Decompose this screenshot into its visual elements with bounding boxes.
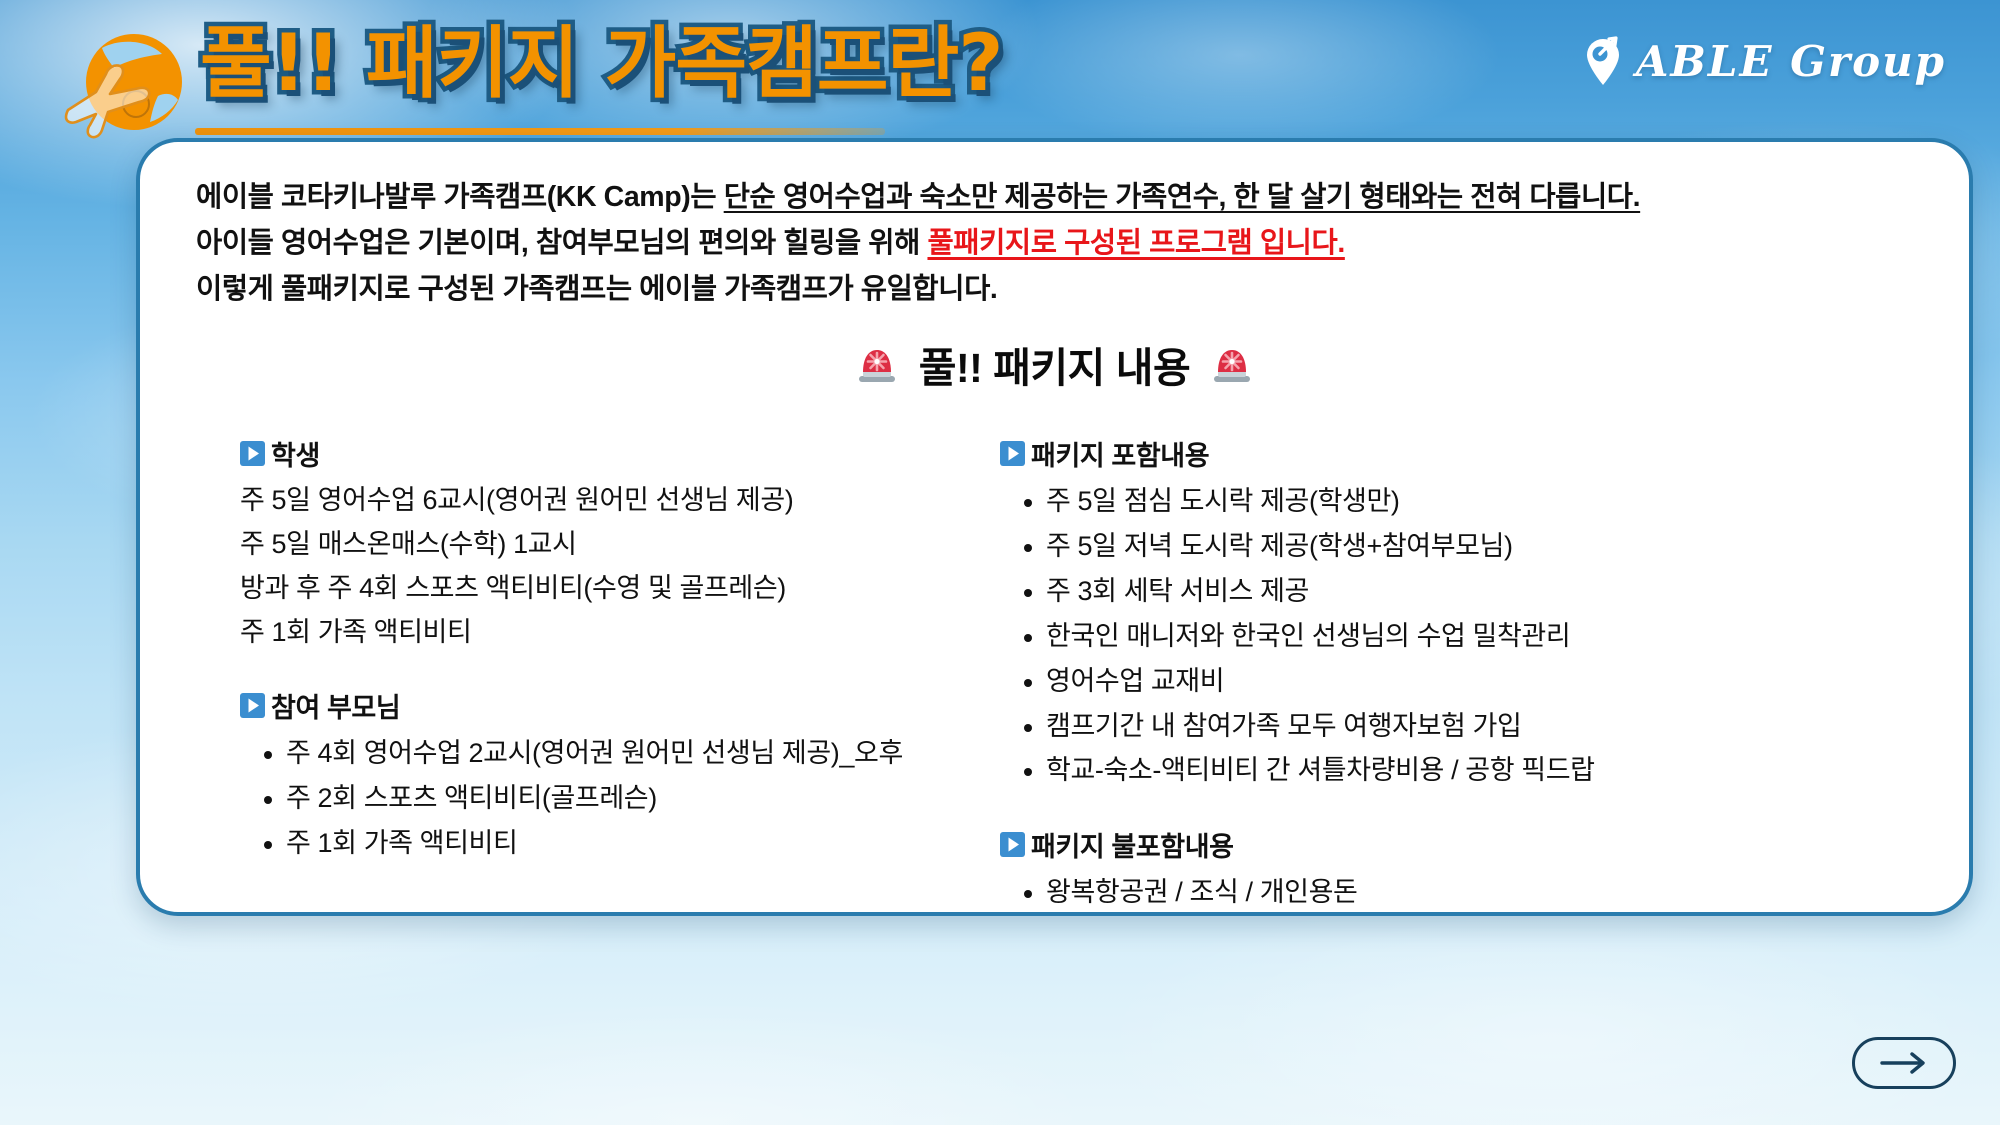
play-button-icon <box>1000 832 1025 857</box>
list-item: 주 3회 세탁 서비스 제공 <box>1046 569 1830 614</box>
list-item: 영어수업 교재비 <box>1046 659 1830 704</box>
intro-line-2-plain: 아이들 영어수업은 기본이며, 참여부모님의 편의와 힐링을 위해 <box>196 227 927 259</box>
list-item: 주 5일 매스온매스(수학) 1교시 <box>240 523 940 567</box>
group-student-label: 학생 <box>271 434 320 473</box>
slide-header: 풀!! 패키지 가족캠프란? ABLE Group <box>0 0 2000 150</box>
list-item: 주 1회 가족 액티비티 <box>240 611 940 655</box>
group-excluded-list: 왕복항공권 / 조식 / 개인용돈 <box>1000 870 1830 915</box>
intro-line-2: 아이들 영어수업은 기본이며, 참여부모님의 편의와 힐링을 위해 풀패키지로 … <box>196 220 1923 266</box>
group-excluded-header: 패키지 불포함내용 <box>1000 825 1830 864</box>
list-item: 학교-숙소-액티비티 간 셔틀차량비용 / 공항 픽드랍 <box>1046 748 1830 793</box>
intro-line-1-plain: 에이블 코타키나발루 가족캠프(KK Camp)는 <box>196 181 724 213</box>
section-heading: 풀!! 패키지 내용 <box>186 334 1923 394</box>
title-underline-bar <box>195 128 885 135</box>
list-item: 방과 후 주 4회 스포츠 액티비티(수영 및 골프레슨) <box>240 567 940 611</box>
intro-line-2-highlight: 풀패키지로 구성된 프로그램 입니다. <box>927 227 1344 259</box>
arrow-right-icon <box>1876 1051 1932 1075</box>
section-heading-label: 풀!! 패키지 내용 <box>919 334 1190 394</box>
list-item: 주 5일 저녁 도시락 제공(학생+참여부모님) <box>1046 524 1830 569</box>
list-item: 한국인 매니저와 한국인 선생님의 수업 밀착관리 <box>1046 614 1830 659</box>
list-item: 주 5일 점심 도시락 제공(학생만) <box>1046 479 1830 524</box>
column-right: 패키지 포함내용 주 5일 점심 도시락 제공(학생만) 주 5일 저녁 도시락… <box>1000 434 1830 919</box>
play-button-icon <box>240 693 265 718</box>
group-included-list: 주 5일 점심 도시락 제공(학생만) 주 5일 저녁 도시락 제공(학생+참여… <box>1000 479 1830 793</box>
list-item: 주 1회 가족 액티비티 <box>286 821 940 866</box>
group-included-label: 패키지 포함내용 <box>1031 434 1209 473</box>
intro-line-1-underlined: 단순 영어수업과 숙소만 제공하는 가족연수, 한 달 살기 형태와는 전혀 다… <box>724 181 1640 213</box>
group-included-header: 패키지 포함내용 <box>1000 434 1830 473</box>
list-item: 주 5일 영어수업 6교시(영어권 원어민 선생님 제공) <box>240 479 940 523</box>
group-student-header: 학생 <box>240 434 940 473</box>
page-title: 풀!! 패키지 가족캠프란? <box>200 18 1003 110</box>
globe-plane-icon <box>62 26 186 142</box>
play-button-icon <box>1000 441 1025 466</box>
brand-name: ABLE Group <box>1636 37 1946 86</box>
brand-logo: ABLE Group <box>1584 30 1946 92</box>
list-item: 주 4회 영어수업 2교시(영어권 원어민 선생님 제공)_오후 <box>286 731 940 776</box>
play-button-icon <box>240 441 265 466</box>
location-pin-arrow-icon <box>1584 36 1622 86</box>
group-excluded-label: 패키지 불포함내용 <box>1031 825 1234 864</box>
list-item: 캠프기간 내 참여가족 모두 여행자보험 가입 <box>1046 704 1830 749</box>
group-parents-label: 참여 부모님 <box>271 686 400 725</box>
slide-root: 풀!! 패키지 가족캠프란? ABLE Group 에이블 코타키나발루 가족캠… <box>0 0 2000 1125</box>
police-light-siren-icon <box>855 343 899 385</box>
content-columns: 학생 주 5일 영어수업 6교시(영어권 원어민 선생님 제공) 주 5일 매스… <box>186 434 1923 919</box>
group-parents: 참여 부모님 주 4회 영어수업 2교시(영어권 원어민 선생님 제공)_오후 … <box>240 686 940 865</box>
group-parents-header: 참여 부모님 <box>240 686 940 725</box>
group-excluded: 패키지 불포함내용 왕복항공권 / 조식 / 개인용돈 <box>1000 825 1830 915</box>
police-light-siren-icon <box>1210 343 1254 385</box>
group-student: 학생 주 5일 영어수업 6교시(영어권 원어민 선생님 제공) 주 5일 매스… <box>240 434 940 654</box>
cloud-decoration <box>300 1000 1100 1125</box>
list-item: 주 2회 스포츠 액티비티(골프레슨) <box>286 776 940 821</box>
content-card: 에이블 코타키나발루 가족캠프(KK Camp)는 단순 영어수업과 숙소만 제… <box>136 138 1973 916</box>
intro-paragraph: 에이블 코타키나발루 가족캠프(KK Camp)는 단순 영어수업과 숙소만 제… <box>186 170 1923 312</box>
next-slide-button[interactable] <box>1852 1037 1956 1089</box>
list-item: 왕복항공권 / 조식 / 개인용돈 <box>1046 870 1830 915</box>
column-left: 학생 주 5일 영어수업 6교시(영어권 원어민 선생님 제공) 주 5일 매스… <box>240 434 940 919</box>
group-parents-list: 주 4회 영어수업 2교시(영어권 원어민 선생님 제공)_오후 주 2회 스포… <box>240 731 940 865</box>
group-student-list: 주 5일 영어수업 6교시(영어권 원어민 선생님 제공) 주 5일 매스온매스… <box>240 479 940 654</box>
page-title-wrap: 풀!! 패키지 가족캠프란? <box>200 18 1003 110</box>
intro-line-1: 에이블 코타키나발루 가족캠프(KK Camp)는 단순 영어수업과 숙소만 제… <box>196 174 1923 220</box>
group-included: 패키지 포함내용 주 5일 점심 도시락 제공(학생만) 주 5일 저녁 도시락… <box>1000 434 1830 793</box>
intro-line-3: 이렇게 풀패키지로 구성된 가족캠프는 에이블 가족캠프가 유일합니다. <box>196 266 1923 312</box>
